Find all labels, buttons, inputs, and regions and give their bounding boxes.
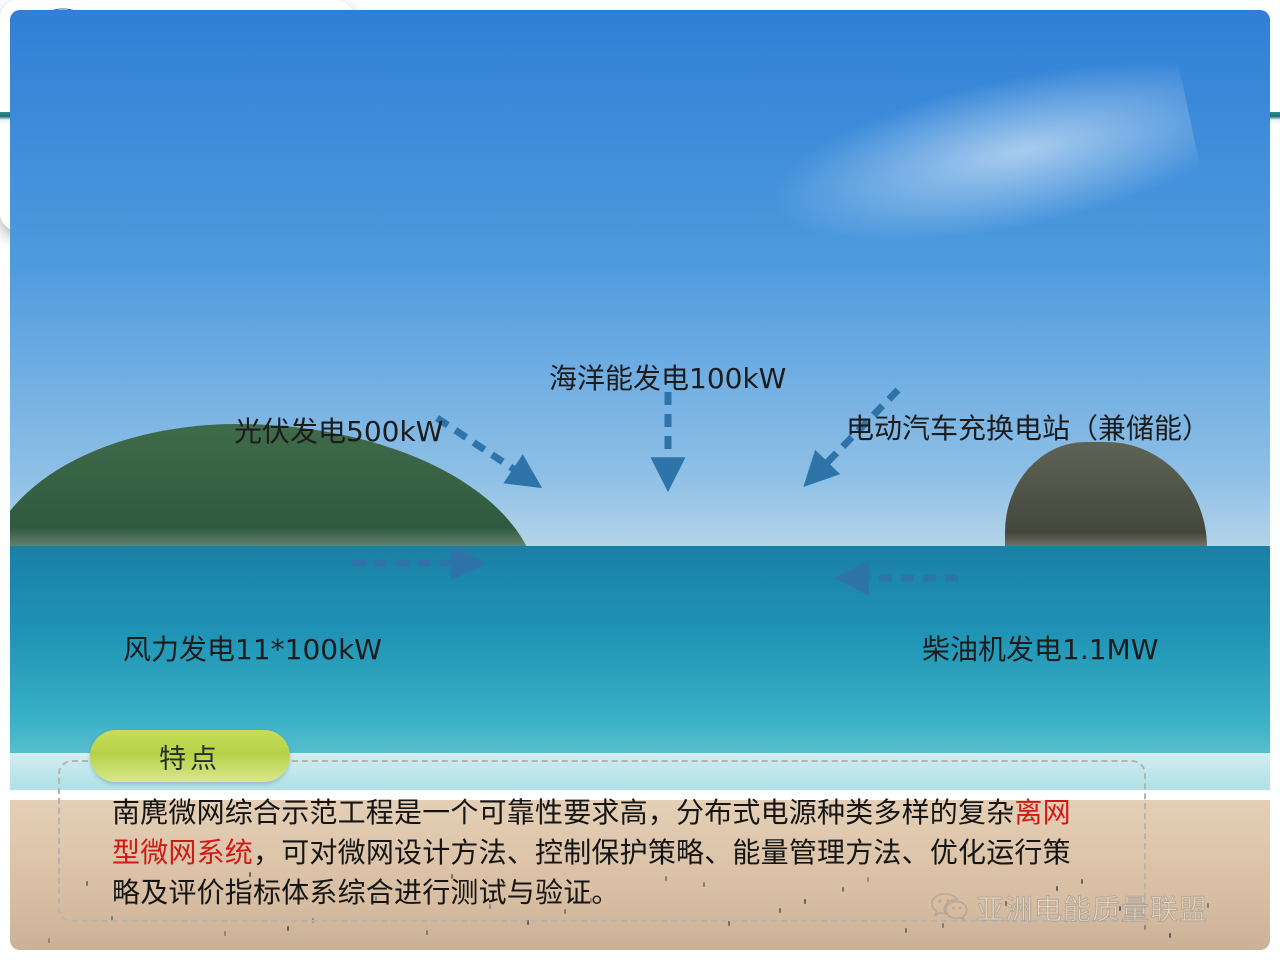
watermark-text: 亚洲电能质量联盟 (976, 888, 1208, 928)
wechat-icon (930, 891, 970, 925)
caption-ev: 电动汽车充换电站（兼储能） (846, 407, 1210, 447)
nanji-island-beach-photo (0, 0, 354, 231)
caption-solar: 光伏发电500kW (234, 410, 443, 450)
watermark: 亚洲电能质量联盟 (930, 888, 1208, 928)
feature-pill: 特点 (90, 730, 290, 782)
slide-canvas: 国家电网 STATE GRID 二、微电网的发展概况 863课题之南麂离网型微网… (0, 0, 1280, 960)
caption-diesel: 柴油机发电1.1MW (922, 628, 1158, 668)
feature-paragraph-part1: 南麂微网综合示范工程是一个可靠性要求高，分布式电源种类多样的复杂 (112, 796, 1014, 829)
caption-ocean: 海洋能发电100kW (549, 357, 786, 397)
feature-paragraph-part2: ，可对微网设计方法、控制保护策略、能量管理方法、优化运行策略及评价指标体系综合进… (112, 836, 1071, 909)
caption-wind: 风力发电11*100kW (123, 628, 382, 668)
feature-pill-label: 特点 (159, 737, 221, 776)
